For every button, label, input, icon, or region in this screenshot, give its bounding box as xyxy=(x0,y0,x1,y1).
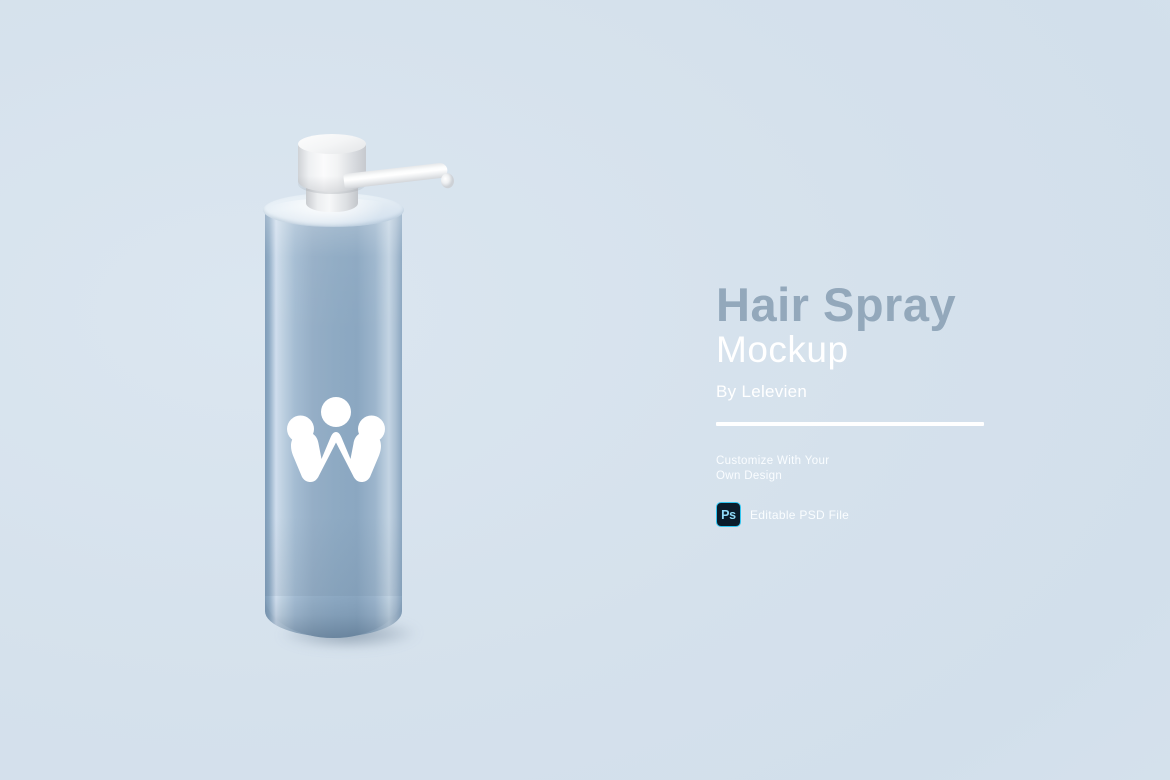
bottle-shoulder-highlight xyxy=(265,198,402,226)
pump-head-top xyxy=(298,134,366,154)
page-title: Hair Spray xyxy=(716,279,996,331)
divider xyxy=(716,422,984,426)
spray-nozzle-tube xyxy=(343,162,448,189)
psd-file-label: Editable PSD File xyxy=(750,508,849,522)
bottle-neck xyxy=(306,178,358,212)
customize-note: Customize With Your Own Design xyxy=(716,454,996,484)
crown-w-logo xyxy=(287,396,385,482)
bottle-shoulder xyxy=(263,193,404,227)
spray-nozzle-tip xyxy=(440,173,455,189)
mockup-scene: Hair Spray Mockup By Lelevien Customize … xyxy=(0,0,1170,780)
bottle-body xyxy=(265,205,402,637)
pump-head xyxy=(298,144,366,192)
customize-note-line2: Own Design xyxy=(716,469,996,484)
customize-note-line1: Customize With Your xyxy=(716,454,996,469)
page-subtitle: Mockup xyxy=(716,329,996,371)
pump-head-shading xyxy=(298,176,366,194)
bottle-bottom xyxy=(265,596,402,638)
info-panel: Hair Spray Mockup By Lelevien Customize … xyxy=(716,279,996,527)
bottle-drop-shadow xyxy=(266,614,450,654)
photoshop-icon: Ps xyxy=(716,502,741,527)
psd-file-row: Ps Editable PSD File xyxy=(716,502,996,527)
byline: By Lelevien xyxy=(716,380,996,404)
